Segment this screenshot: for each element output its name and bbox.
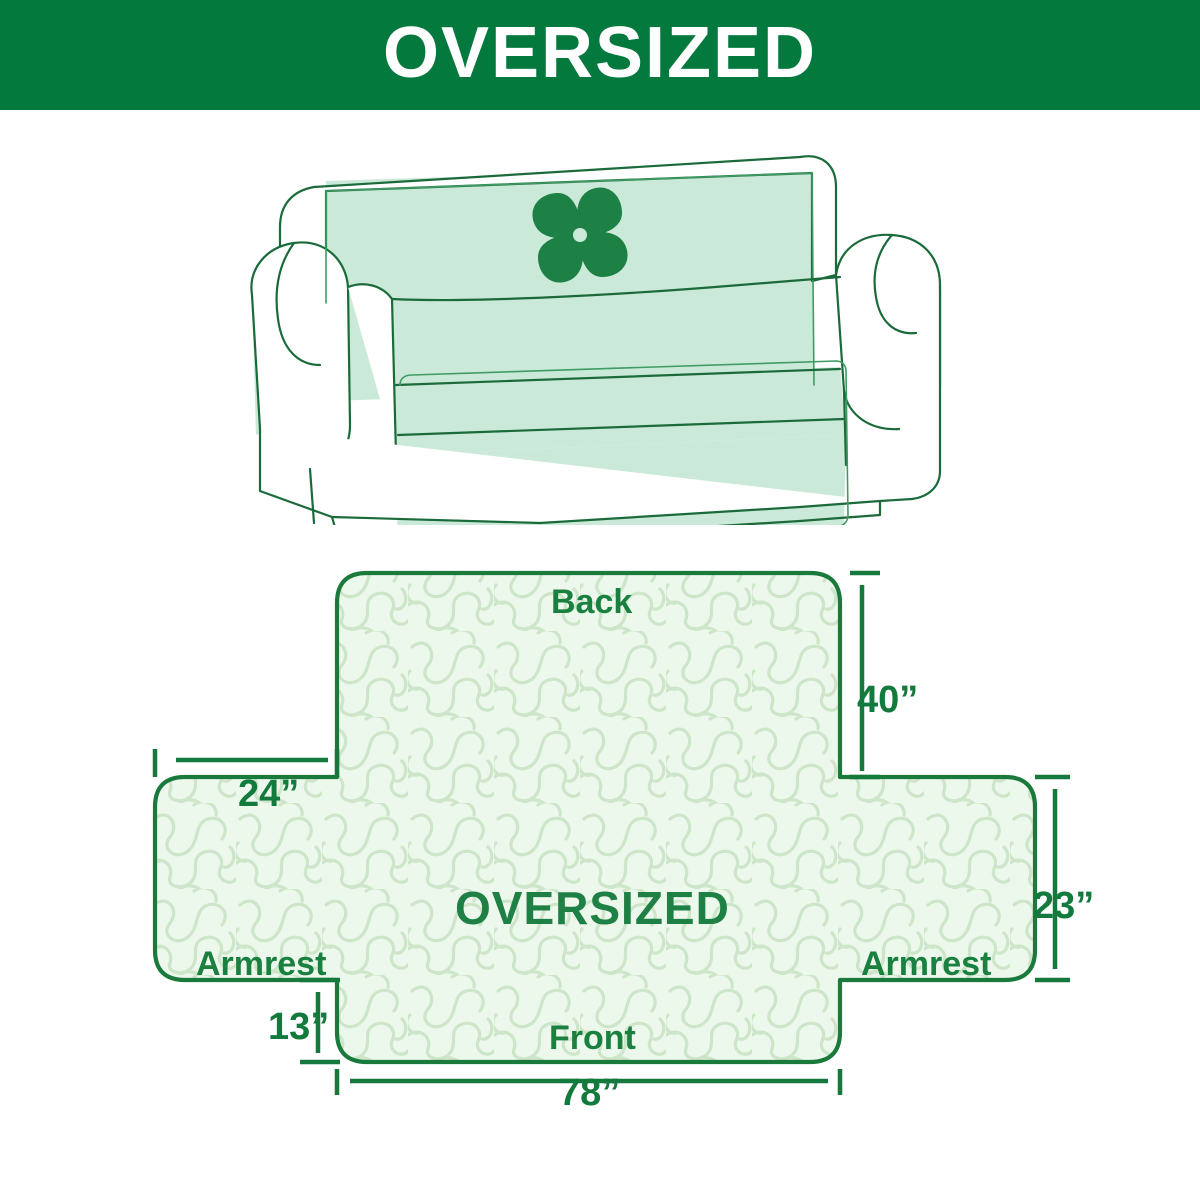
pattern-outline [155, 573, 1035, 1062]
label-armrest-left: Armrest [196, 947, 326, 981]
dimension-label-front-height: 13” [268, 1008, 329, 1046]
header-banner: OVERSIZED [0, 0, 1200, 110]
sofa-illustration: .ol { fill:none; stroke:#1b6b3a; stroke-… [240, 135, 980, 525]
label-back: Back [551, 585, 632, 619]
label-front: Front [549, 1021, 636, 1055]
dimension-label-total-width: 78” [559, 1074, 620, 1112]
pinwheel-fan-icon [532, 187, 627, 282]
page-title: OVERSIZED [383, 17, 817, 89]
dimension-label-armrest-height: 23” [1033, 887, 1094, 925]
dimension-label-armrest-width: 24” [238, 775, 299, 813]
label-oversized-center: OVERSIZED [455, 885, 730, 931]
dimension-line-40 [850, 573, 880, 777]
dimension-label-back-height: 40” [857, 681, 918, 719]
label-armrest-right: Armrest [861, 947, 991, 981]
dimension-line-23 [1035, 777, 1070, 980]
